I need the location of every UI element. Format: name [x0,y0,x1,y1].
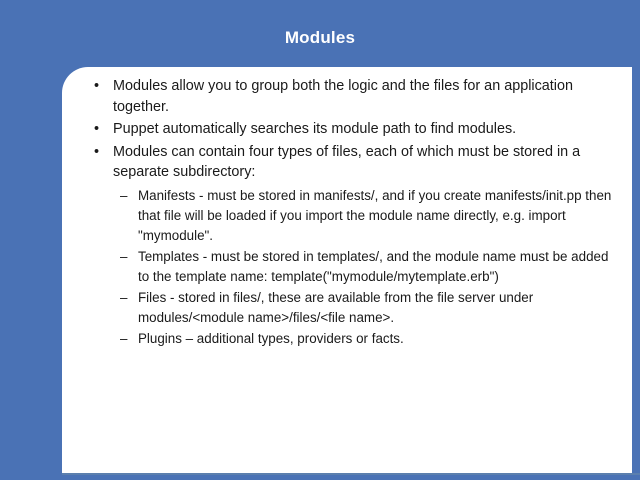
sub-list-item-text: Manifests - must be stored in manifests/… [138,186,618,246]
bullet-dash-icon: – [120,247,136,267]
bullet-dash-icon: – [120,288,136,308]
sub-list-item-text: Plugins – additional types, providers or… [138,329,618,349]
sub-list: – Manifests - must be stored in manifest… [62,186,632,349]
sub-list-item: – Plugins – additional types, providers … [62,329,632,349]
bullet-dot-icon: • [94,142,108,163]
panel-underline [62,473,640,475]
list-item: • Puppet automatically searches its modu… [62,119,632,140]
list-item: • Modules can contain four types of file… [62,142,632,183]
slide: Modules • Modules allow you to group bot… [0,0,640,480]
bullet-dot-icon: • [94,76,108,97]
sub-list-item-text: Files - stored in files/, these are avai… [138,288,618,328]
page-title: Modules [0,28,640,48]
list-item-text: Puppet automatically searches its module… [113,119,618,140]
bullet-dot-icon: • [94,119,108,140]
sub-list-item: – Files - stored in files/, these are av… [62,288,632,328]
list-item-text: Modules allow you to group both the logi… [113,76,618,117]
list-item-text: Modules can contain four types of files,… [113,142,618,183]
content-panel: • Modules allow you to group both the lo… [62,67,632,473]
sub-list-item-text: Templates - must be stored in templates/… [138,247,618,287]
list-item: • Modules allow you to group both the lo… [62,76,632,117]
bullet-dash-icon: – [120,329,136,349]
sub-list-item: – Manifests - must be stored in manifest… [62,186,632,246]
slide-title-bar: Modules [0,0,640,67]
left-accent-strip [0,67,62,480]
slide-body: • Modules allow you to group both the lo… [62,67,632,349]
bullet-dash-icon: – [120,186,136,206]
sub-list-item: – Templates - must be stored in template… [62,247,632,287]
